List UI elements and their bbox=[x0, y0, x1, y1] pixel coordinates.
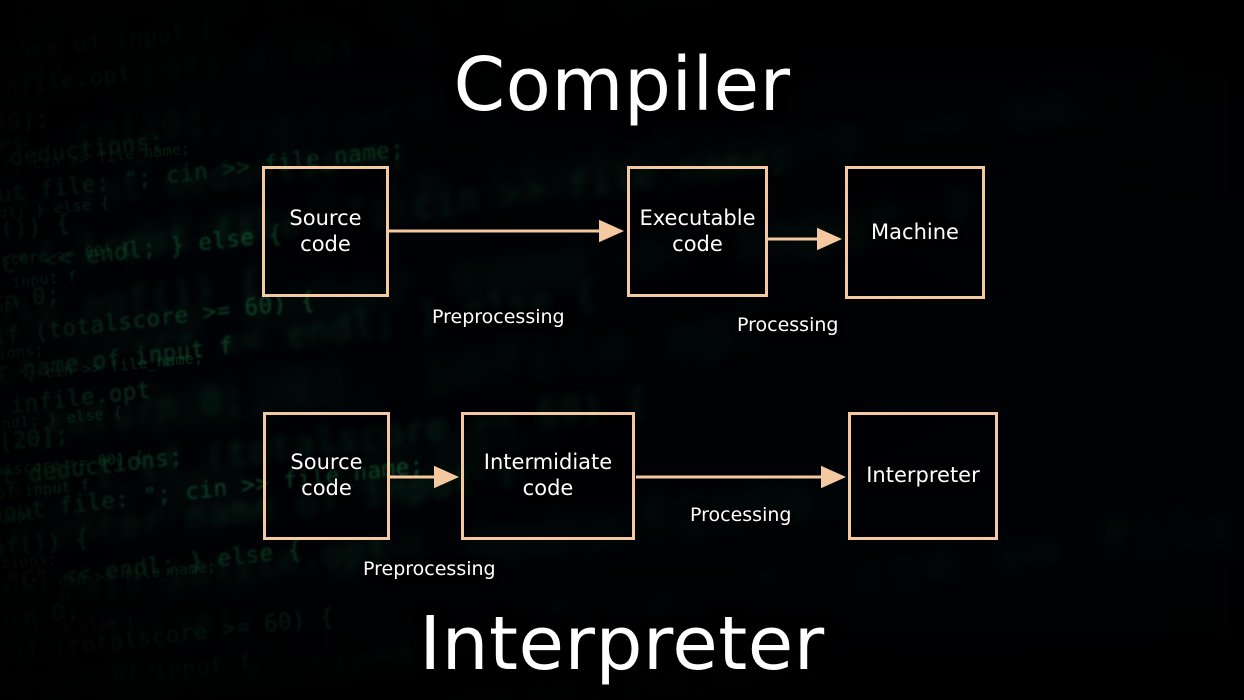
edge-label-preprocessing-interpreter: Preprocessing bbox=[363, 558, 496, 580]
slide-canvas: float hwp, tests, totalscore; int deduct… bbox=[0, 0, 1244, 700]
node-label-line2: code bbox=[290, 476, 362, 502]
node-label-line1: Source bbox=[289, 206, 361, 232]
node-label-line1: Intermidiate bbox=[484, 450, 612, 476]
node-source-code-compiler[interactable]: Source code bbox=[262, 166, 389, 297]
node-label-line2: code bbox=[484, 476, 612, 502]
node-label-line2: code bbox=[289, 232, 361, 258]
node-interpreter[interactable]: Interpreter bbox=[848, 412, 998, 540]
node-label-line1: Executable bbox=[639, 206, 755, 232]
node-executable-code[interactable]: Executable code bbox=[627, 166, 768, 297]
edge-label-preprocessing-compiler: Preprocessing bbox=[432, 306, 565, 328]
node-machine[interactable]: Machine bbox=[845, 166, 985, 299]
edge-label-processing-compiler: Processing bbox=[737, 314, 838, 336]
diagram-foreground: Compiler Interpreter Source code Executa… bbox=[0, 0, 1244, 700]
page-title-compiler: Compiler bbox=[0, 48, 1244, 122]
node-label-line1: Machine bbox=[871, 220, 959, 246]
node-label-line1: Source bbox=[290, 450, 362, 476]
node-label-line2: code bbox=[639, 232, 755, 258]
page-title-interpreter: Interpreter bbox=[0, 607, 1244, 681]
edge-label-processing-interpreter: Processing bbox=[690, 504, 791, 526]
node-intermidiate-code[interactable]: Intermidiate code bbox=[461, 412, 635, 540]
node-source-code-interpreter[interactable]: Source code bbox=[263, 412, 390, 540]
node-label-line1: Interpreter bbox=[866, 463, 980, 489]
